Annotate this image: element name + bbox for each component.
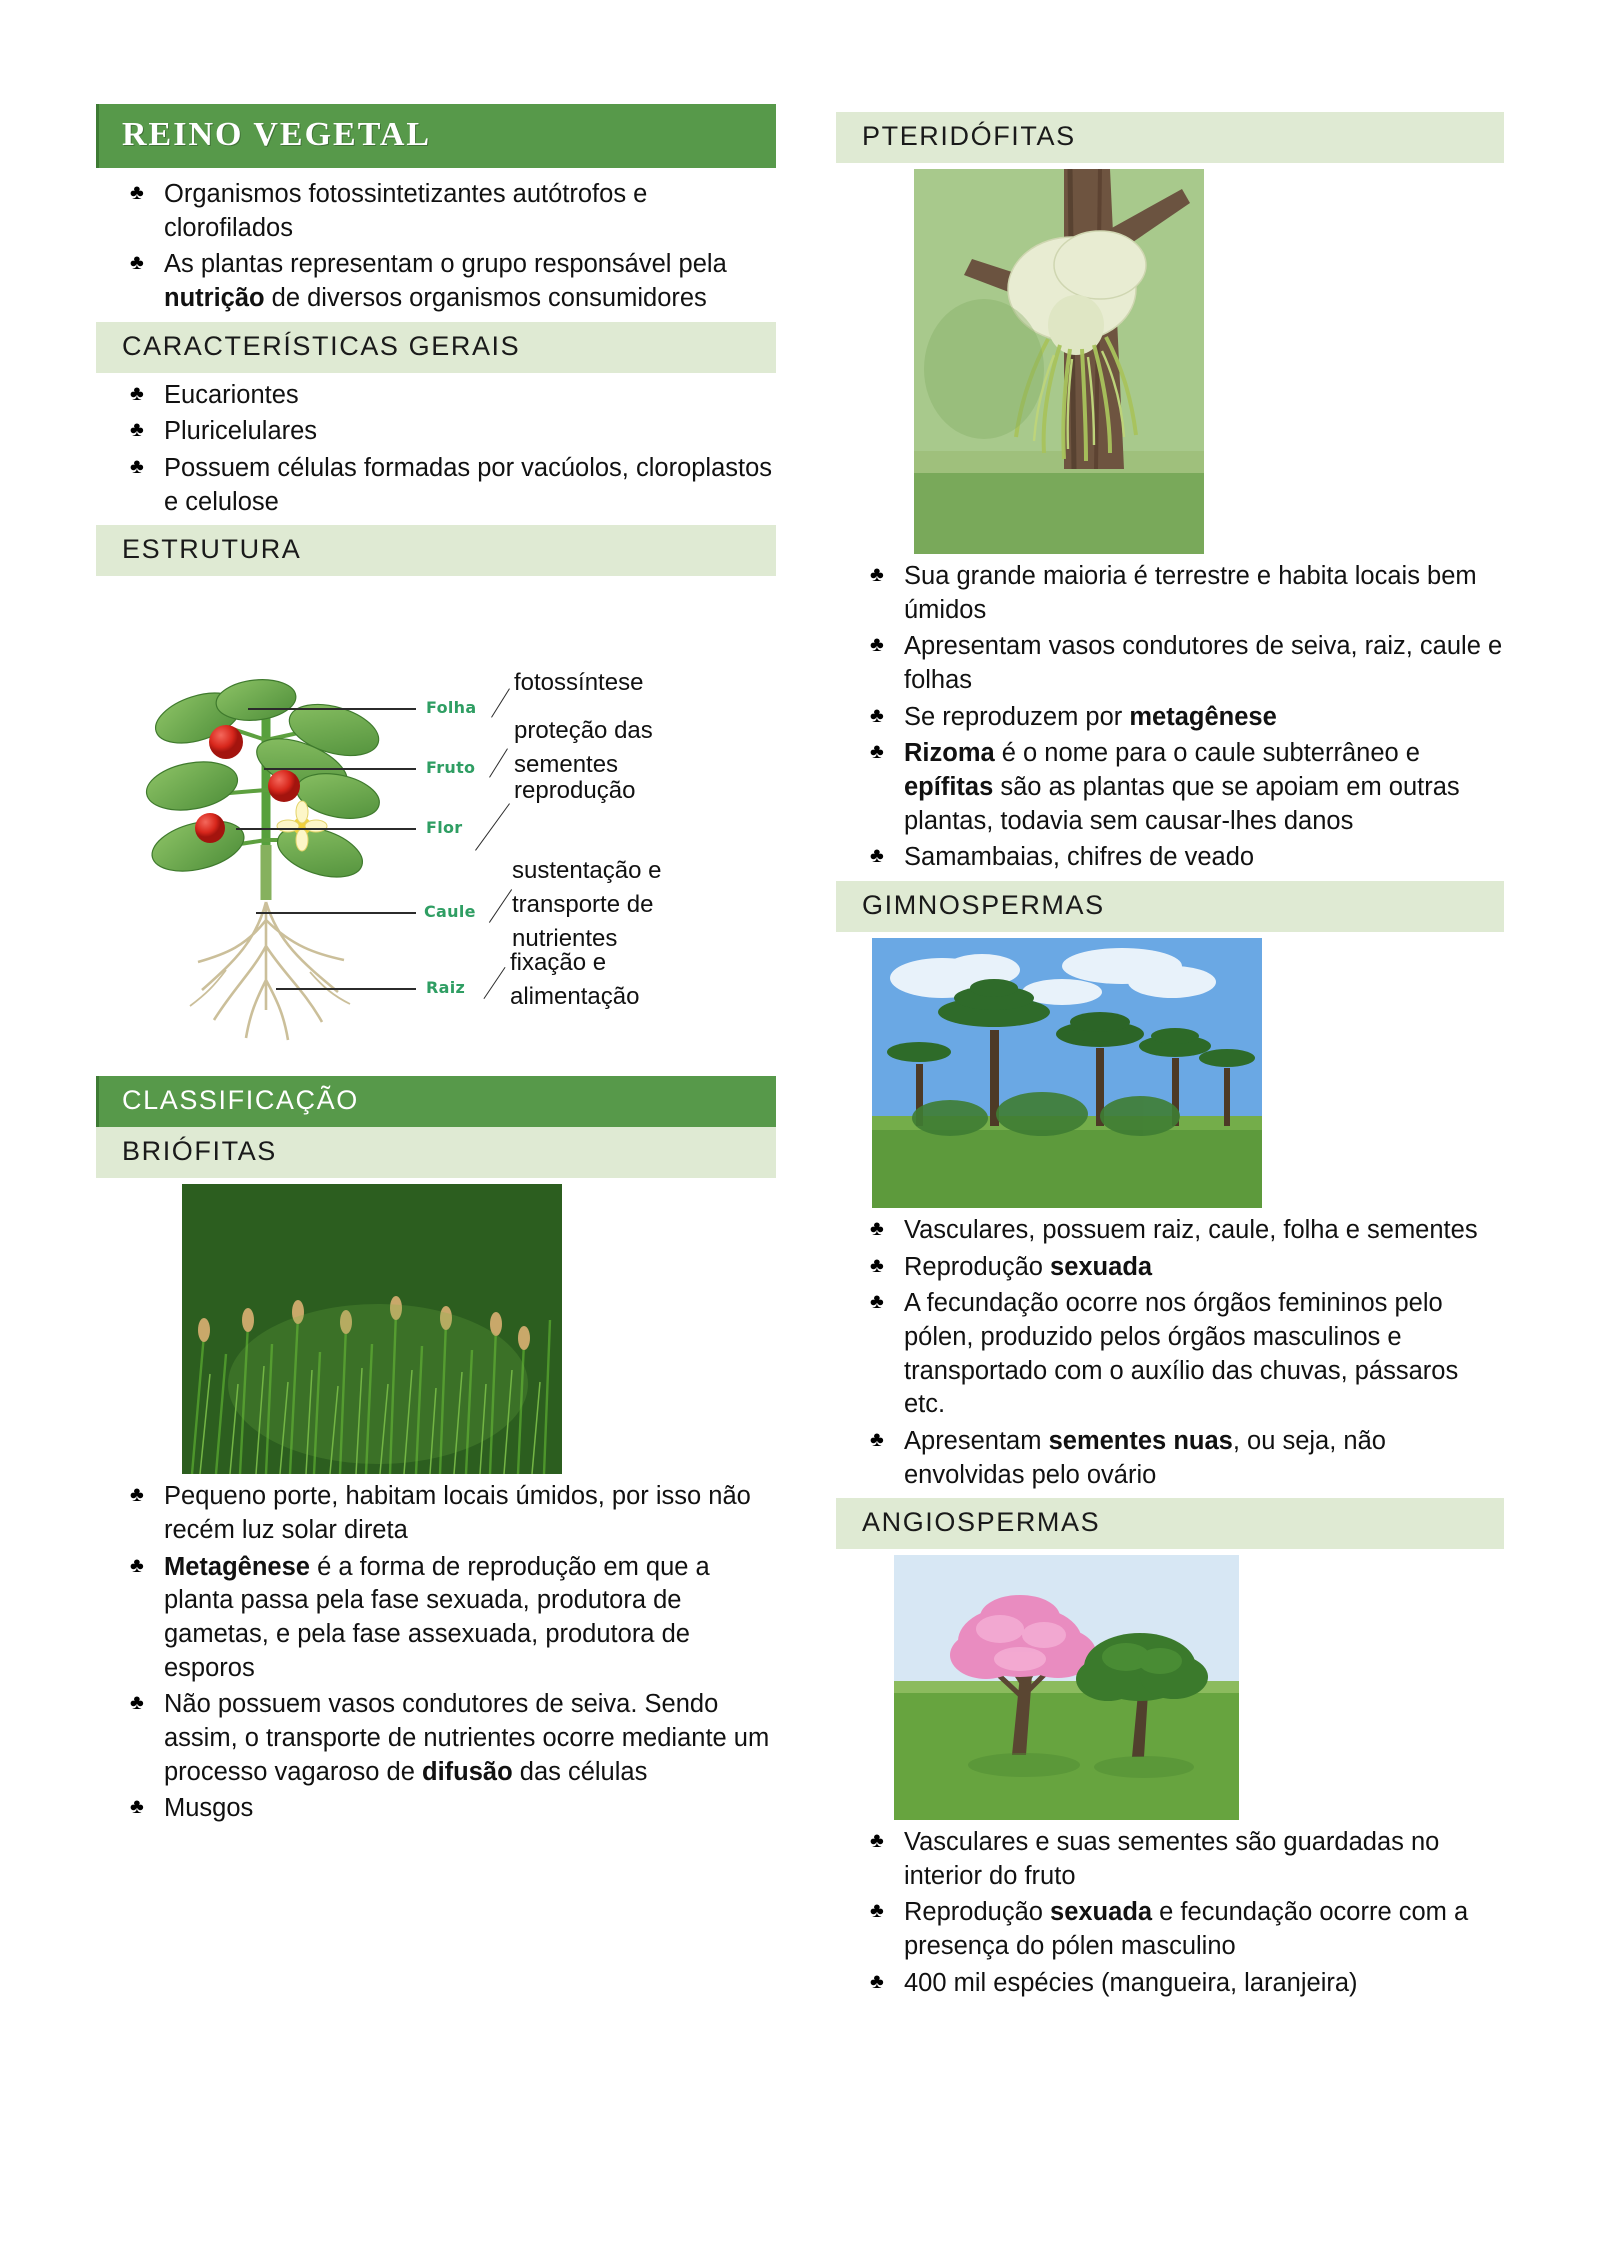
bullet-item: ♣Reprodução sexuada xyxy=(836,1251,1504,1285)
bullet-text: Apresentam vasos condutores de seiva, ra… xyxy=(904,632,1502,694)
section-header-label: GIMNOSPERMAS xyxy=(862,890,1105,920)
club-bullet-icon: ♣ xyxy=(130,249,144,277)
bullet-text-bold: difusão xyxy=(422,1758,513,1786)
bullet-item: ♣Vasculares, possuem raiz, caule, folha … xyxy=(836,1214,1504,1248)
section-header-label: ANGIOSPERMAS xyxy=(862,1507,1100,1537)
diagram-label-flor: Flor xyxy=(426,818,463,837)
bullet-item: ♣Musgos xyxy=(96,1792,776,1826)
club-bullet-icon: ♣ xyxy=(870,1897,884,1925)
bullet-text: Sua grande maioria é terrestre e habita … xyxy=(904,562,1477,624)
bullet-text: é o nome para o caule subterrâneo e xyxy=(995,739,1420,767)
tick-folha xyxy=(491,689,510,718)
club-bullet-icon: ♣ xyxy=(870,842,884,870)
section-header-label: ESTRUTURA xyxy=(122,534,301,564)
bullet-item: ♣As plantas representam o grupo responsá… xyxy=(96,248,776,315)
club-bullet-icon: ♣ xyxy=(130,453,144,481)
bullet-item: ♣Sua grande maioria é terrestre e habita… xyxy=(836,560,1504,627)
bullet-text: Vasculares e suas sementes são guardadas… xyxy=(904,1828,1439,1890)
study-notes-page: REINO VEGETAL ♣Organismos fotossintetiza… xyxy=(0,0,1600,2263)
bullet-text-bold: sexuada xyxy=(1050,1898,1152,1926)
intro-bullet-list: ♣Organismos fotossintetizantes autótrofo… xyxy=(96,178,776,316)
club-bullet-icon: ♣ xyxy=(870,1288,884,1316)
club-bullet-icon: ♣ xyxy=(870,1215,884,1243)
diagram-function-flor: reprodução xyxy=(514,774,724,808)
section-header-angiospermas: ANGIOSPERMAS xyxy=(836,1498,1504,1549)
bullet-text-bold: sexuada xyxy=(1050,1253,1152,1281)
pink-blossom-tree-photo xyxy=(894,1555,1239,1820)
bullet-text-bold: Rizoma xyxy=(904,739,995,767)
caracteristicas-bullet-list: ♣Eucariontes♣Pluricelulares♣Possuem célu… xyxy=(96,379,776,520)
bullet-item: ♣Apresentam vasos condutores de seiva, r… xyxy=(836,630,1504,697)
bullet-text: Musgos xyxy=(164,1794,253,1822)
bullet-item: ♣Metagênese é a forma de reprodução em q… xyxy=(96,1551,776,1686)
tick-fruto xyxy=(489,749,508,778)
page-title: REINO VEGETAL xyxy=(122,118,776,152)
club-bullet-icon: ♣ xyxy=(870,631,884,659)
diagram-function-raiz: fixação e alimentação xyxy=(510,946,710,1014)
bullet-text: Samambaias, chifres de veado xyxy=(904,843,1254,871)
diagram-label-caule: Caule xyxy=(424,902,476,921)
club-bullet-icon: ♣ xyxy=(870,561,884,589)
bullet-text: das células xyxy=(513,1758,648,1786)
club-bullet-icon: ♣ xyxy=(870,738,884,766)
moss-photo xyxy=(182,1184,562,1474)
leader-line-fruto xyxy=(264,768,416,770)
leader-line-caule xyxy=(256,912,416,914)
bullet-text-bold: metagênese xyxy=(1129,703,1276,731)
tick-flor xyxy=(475,803,510,851)
bullet-item: ♣Samambaias, chifres de veado xyxy=(836,841,1504,875)
club-bullet-icon: ♣ xyxy=(870,1426,884,1454)
bullet-item: ♣Se reproduzem por metagênese xyxy=(836,701,1504,735)
left-column: REINO VEGETAL ♣Organismos fotossintetiza… xyxy=(96,104,776,1832)
bullet-item: ♣400 mil espécies (mangueira, laranjeira… xyxy=(836,1967,1504,2001)
club-bullet-icon: ♣ xyxy=(870,1827,884,1855)
bullet-item: ♣Reprodução sexuada e fecundação ocorre … xyxy=(836,1896,1504,1963)
bullet-text: Vasculares, possuem raiz, caule, folha e… xyxy=(904,1216,1478,1244)
club-bullet-icon: ♣ xyxy=(130,380,144,408)
section-header-caracteristicas: CARACTERÍSTICAS GERAIS xyxy=(96,322,776,373)
bullet-text: Possuem células formadas por vacúolos, c… xyxy=(164,454,772,516)
bullet-text: Pluricelulares xyxy=(164,417,317,445)
diagram-function-caule: sustentação e transporte de nutrientes xyxy=(512,854,728,956)
bullet-text: A fecundação ocorre nos órgãos femininos… xyxy=(904,1289,1458,1418)
section-header-pteridofitas: PTERIDÓFITAS xyxy=(836,112,1504,163)
club-bullet-icon: ♣ xyxy=(130,179,144,207)
bullet-text-bold: sementes nuas xyxy=(1049,1427,1233,1455)
araucaria-forest-photo xyxy=(872,938,1262,1208)
club-bullet-icon: ♣ xyxy=(870,702,884,730)
bullet-item: ♣A fecundação ocorre nos órgãos feminino… xyxy=(836,1287,1504,1422)
bullet-text: Se reproduzem por xyxy=(904,703,1129,731)
bullet-text: As plantas representam o grupo responsáv… xyxy=(164,250,727,278)
tick-caule xyxy=(489,889,512,923)
bullet-text: de diversos organismos consumidores xyxy=(265,284,707,312)
club-bullet-icon: ♣ xyxy=(870,1252,884,1280)
bullet-item: ♣Apresentam sementes nuas, ou seja, não … xyxy=(836,1425,1504,1492)
bullet-text: Eucariontes xyxy=(164,381,299,409)
angiospermas-bullet-list: ♣Vasculares e suas sementes são guardada… xyxy=(836,1826,1504,2000)
diagram-label-fruto: Fruto xyxy=(426,758,475,777)
bullet-item: ♣Possuem células formadas por vacúolos, … xyxy=(96,452,776,519)
club-bullet-icon: ♣ xyxy=(130,416,144,444)
bullet-text: Reprodução xyxy=(904,1898,1050,1926)
briofitas-bullet-list: ♣Pequeno porte, habitam locais úmidos, p… xyxy=(96,1480,776,1826)
club-bullet-icon: ♣ xyxy=(870,1968,884,1996)
bullet-text: Organismos fotossintetizantes autótrofos… xyxy=(164,180,647,242)
bullet-item: ♣Pequeno porte, habitam locais úmidos, p… xyxy=(96,1480,776,1547)
club-bullet-icon: ♣ xyxy=(130,1552,144,1580)
bullet-text-bold: Metagênese xyxy=(164,1553,310,1581)
bullet-text: Reprodução xyxy=(904,1253,1050,1281)
bullet-item: ♣Eucariontes xyxy=(96,379,776,413)
diagram-function-fruto: proteção das sementes xyxy=(514,714,724,782)
diagram-function-folha: fotossíntese xyxy=(514,666,744,700)
club-bullet-icon: ♣ xyxy=(130,1689,144,1717)
bullet-text-bold: nutrição xyxy=(164,284,265,312)
club-bullet-icon: ♣ xyxy=(130,1793,144,1821)
bullet-text: Apresentam xyxy=(904,1427,1049,1455)
bullet-text-bold: epífitas xyxy=(904,773,993,801)
section-header-label: CARACTERÍSTICAS GERAIS xyxy=(122,331,520,361)
leader-line-flor xyxy=(236,828,416,830)
club-bullet-icon: ♣ xyxy=(130,1481,144,1509)
section-header-estrutura: ESTRUTURA xyxy=(96,525,776,576)
plant-structure-diagram: Folha fotossíntese Fruto proteção das se… xyxy=(96,582,776,1062)
bullet-text: 400 mil espécies (mangueira, laranjeira) xyxy=(904,1969,1358,1997)
diagram-label-raiz: Raiz xyxy=(426,978,465,997)
diagram-label-folha: Folha xyxy=(426,698,476,717)
bullet-item: ♣Não possuem vasos condutores de seiva. … xyxy=(96,1688,776,1789)
pteridofitas-bullet-list: ♣Sua grande maioria é terrestre e habita… xyxy=(836,560,1504,875)
tick-raiz xyxy=(483,967,505,999)
section-header-label: BRIÓFITAS xyxy=(122,1136,277,1166)
section-header-label: PTERIDÓFITAS xyxy=(862,121,1076,151)
bullet-text: Pequeno porte, habitam locais úmidos, po… xyxy=(164,1482,751,1544)
section-header-gimnospermas: GIMNOSPERMAS xyxy=(836,881,1504,932)
section-header-label: CLASSIFICAÇÃO xyxy=(122,1085,359,1115)
main-title-banner: REINO VEGETAL xyxy=(96,104,776,168)
section-header-classificacao: CLASSIFICAÇÃO xyxy=(96,1076,776,1127)
bullet-item: ♣Pluricelulares xyxy=(96,415,776,449)
bullet-item: ♣Vasculares e suas sementes são guardada… xyxy=(836,1826,1504,1893)
section-header-briofitas: BRIÓFITAS xyxy=(96,1127,776,1178)
leader-line-raiz xyxy=(276,988,416,990)
gimnospermas-bullet-list: ♣Vasculares, possuem raiz, caule, folha … xyxy=(836,1214,1504,1492)
bullet-item: ♣Organismos fotossintetizantes autótrofo… xyxy=(96,178,776,245)
bullet-item: ♣Rizoma é o nome para o caule subterrâne… xyxy=(836,737,1504,838)
staghorn-fern-on-tree-photo xyxy=(914,169,1204,554)
right-column: PTERIDÓFITAS xyxy=(836,112,1504,2006)
leader-line-folha xyxy=(248,708,416,710)
